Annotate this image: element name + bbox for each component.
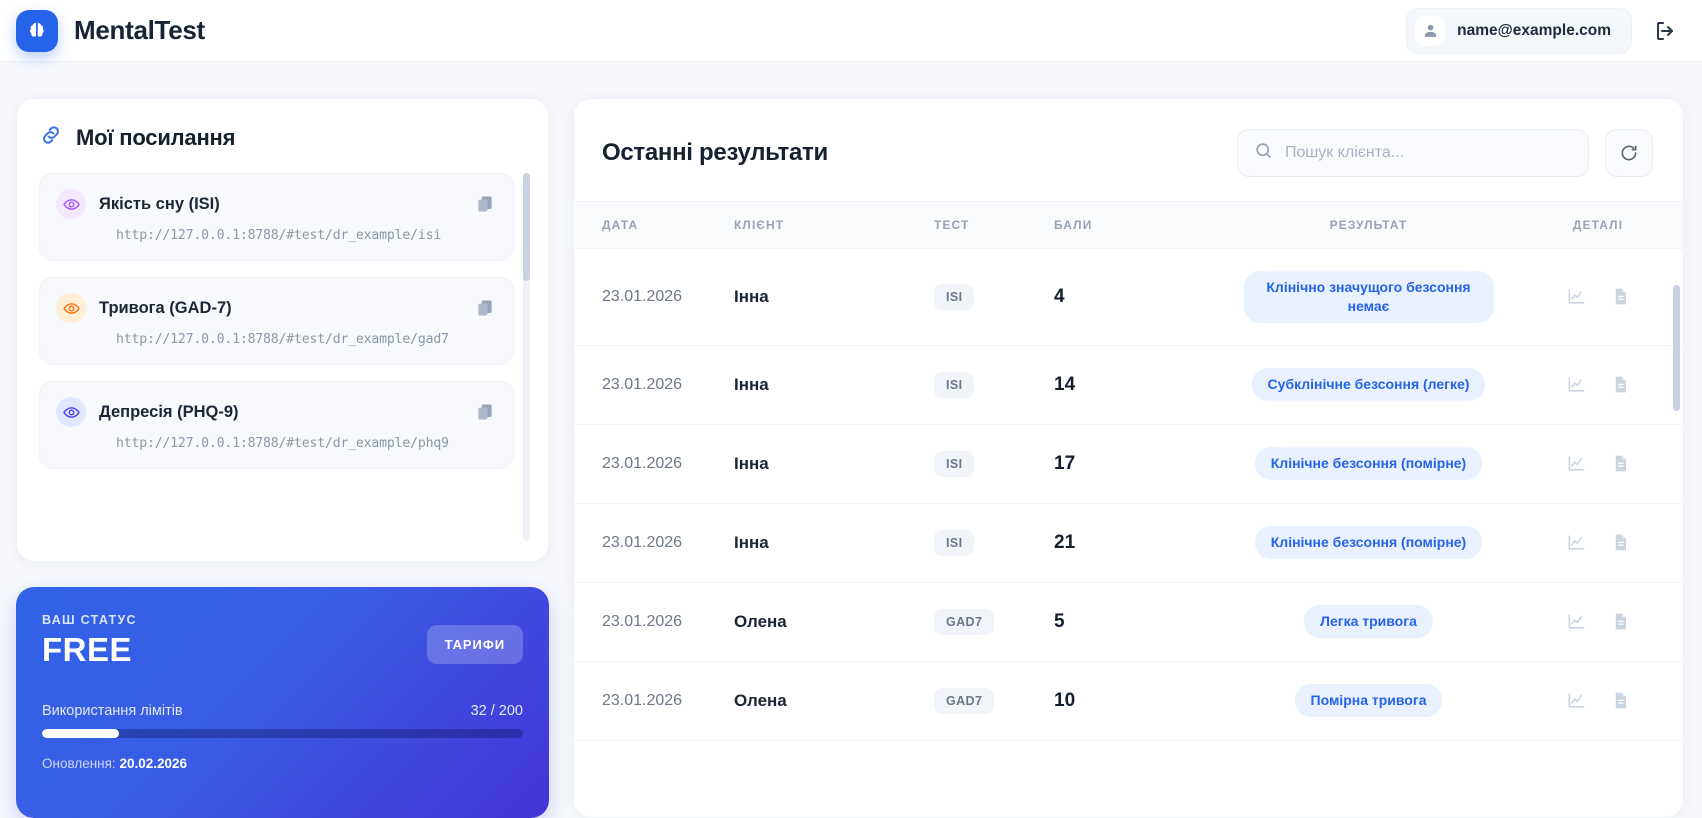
column-header-client[interactable]: КЛІЄНТ	[734, 202, 934, 249]
table-row[interactable]: 23.01.2026 Інна ISI 17 Клінічне безсоння…	[574, 424, 1683, 503]
table-header-row: ДАТА КЛІЄНТ ТЕСТ БАЛИ РЕЗУЛЬТАТ ДЕТАЛІ	[574, 202, 1683, 249]
table-row[interactable]: 23.01.2026 Олена GAD7 10 Помірна тривога	[574, 661, 1683, 740]
cell-test: ISI	[934, 249, 1054, 346]
cell-test: ISI	[934, 345, 1054, 424]
cell-result: Субклінічне безсоння (легке)	[1224, 345, 1513, 424]
user-email: name@example.com	[1457, 22, 1611, 40]
links-list: Якість сну (ISI) http://127.0.0.1:8788/#…	[39, 173, 530, 541]
table-row[interactable]: 23.01.2026 Інна ISI 4 Клінічно значущого…	[574, 249, 1683, 346]
my-links-card: Мої посилання Якість сну (ISI)	[16, 98, 549, 562]
cell-test: ISI	[934, 424, 1054, 503]
results-header: Останні результати	[574, 99, 1683, 201]
cell-client: Інна	[734, 424, 934, 503]
app-root: MentalTest name@example.com	[0, 0, 1702, 818]
test-badge: ISI	[934, 451, 974, 477]
limits-progress-bar	[42, 729, 523, 738]
cell-date: 23.01.2026	[574, 249, 734, 346]
app-header: MentalTest name@example.com	[0, 0, 1702, 62]
search-input[interactable]	[1285, 144, 1572, 162]
column-header-date[interactable]: ДАТА	[574, 202, 734, 249]
page-body: Мої посилання Якість сну (ISI)	[0, 62, 1702, 818]
chart-icon[interactable]	[1559, 368, 1593, 402]
cell-client: Олена	[734, 661, 934, 740]
cell-date: 23.01.2026	[574, 582, 734, 661]
user-icon	[1415, 16, 1445, 46]
limits-progress-fill	[42, 729, 119, 738]
cell-test: GAD7	[934, 582, 1054, 661]
column-header-details[interactable]: ДЕТАЛІ	[1513, 202, 1683, 249]
chart-icon[interactable]	[1559, 605, 1593, 639]
chart-icon[interactable]	[1559, 447, 1593, 481]
brand-name: MentalTest	[74, 15, 205, 46]
document-icon[interactable]	[1603, 526, 1637, 560]
cell-result: Легка тривога	[1224, 582, 1513, 661]
links-scrollbar-thumb[interactable]	[523, 173, 530, 281]
user-chip[interactable]: name@example.com	[1406, 8, 1632, 54]
cell-details	[1513, 661, 1683, 740]
cell-result: Клінічно значущого безсоння немає	[1224, 249, 1513, 346]
status-badge: Клінічно значущого безсоння немає	[1244, 271, 1494, 323]
document-icon[interactable]	[1603, 605, 1637, 639]
cell-date: 23.01.2026	[574, 424, 734, 503]
test-badge: ISI	[934, 372, 974, 398]
cell-details	[1513, 582, 1683, 661]
document-icon[interactable]	[1603, 447, 1637, 481]
column-header-test[interactable]: ТЕСТ	[934, 202, 1054, 249]
column-header-result[interactable]: РЕЗУЛЬТАТ	[1224, 202, 1513, 249]
results-panel: Останні результати	[573, 98, 1684, 818]
brain-icon	[16, 10, 58, 52]
plans-button[interactable]: ТАРИФИ	[427, 625, 523, 664]
test-badge: ISI	[934, 530, 974, 556]
list-item[interactable]: Тривога (GAD-7) http://127.0.0.1:8788/#t…	[39, 277, 514, 365]
my-links-title: Мої посилання	[76, 125, 235, 151]
test-badge: ISI	[934, 284, 974, 310]
page-title: Останні результати	[602, 139, 828, 167]
cell-score: 14	[1054, 345, 1224, 424]
link-url: http://127.0.0.1:8788/#test/dr_example/i…	[56, 228, 495, 243]
results-table: ДАТА КЛІЄНТ ТЕСТ БАЛИ РЕЗУЛЬТАТ ДЕТАЛІ 2…	[574, 201, 1683, 741]
limits-label: Використання лімітів	[42, 703, 183, 719]
cell-test: GAD7	[934, 661, 1054, 740]
copy-icon[interactable]	[475, 194, 495, 214]
document-icon[interactable]	[1603, 368, 1637, 402]
chart-icon[interactable]	[1559, 684, 1593, 718]
renew-label: Оновлення:	[42, 756, 116, 771]
cell-result: Клінічне безсоння (помірне)	[1224, 424, 1513, 503]
refresh-button[interactable]	[1605, 129, 1653, 177]
link-url: http://127.0.0.1:8788/#test/dr_example/p…	[56, 436, 495, 451]
test-badge: GAD7	[934, 609, 994, 635]
brand[interactable]: MentalTest	[16, 10, 205, 52]
results-table-body: 23.01.2026 Інна ISI 4 Клінічно значущого…	[574, 249, 1683, 741]
renew-date: 20.02.2026	[119, 756, 187, 771]
header-actions: name@example.com	[1406, 8, 1680, 54]
cell-score: 5	[1054, 582, 1224, 661]
cell-client: Інна	[734, 503, 934, 582]
cell-details	[1513, 503, 1683, 582]
eye-icon	[56, 189, 86, 219]
link-chain-icon	[39, 123, 63, 152]
document-icon[interactable]	[1603, 684, 1637, 718]
renew-info: Оновлення: 20.02.2026	[42, 756, 523, 771]
test-badge: GAD7	[934, 688, 994, 714]
cell-score: 10	[1054, 661, 1224, 740]
cell-details	[1513, 345, 1683, 424]
cell-date: 23.01.2026	[574, 345, 734, 424]
cell-test: ISI	[934, 503, 1054, 582]
search-icon	[1254, 141, 1273, 165]
eye-icon	[56, 397, 86, 427]
status-badge: Легка тривога	[1304, 605, 1433, 638]
cell-score: 21	[1054, 503, 1224, 582]
cell-score: 17	[1054, 424, 1224, 503]
status-card: ВАШ СТАТУС FREE ТАРИФИ Використання лімі…	[16, 587, 549, 818]
sidebar: Мої посилання Якість сну (ISI)	[16, 98, 549, 818]
chart-icon[interactable]	[1559, 280, 1593, 314]
status-badge: Субклінічне безсоння (легке)	[1252, 368, 1486, 401]
link-url: http://127.0.0.1:8788/#test/dr_example/g…	[56, 332, 495, 347]
eye-icon	[56, 293, 86, 323]
cell-score: 4	[1054, 249, 1224, 346]
table-row[interactable]: 23.01.2026 Інна ISI 14 Субклінічне безсо…	[574, 345, 1683, 424]
table-row[interactable]: 23.01.2026 Олена GAD7 5 Легка тривога	[574, 582, 1683, 661]
copy-icon[interactable]	[475, 298, 495, 318]
link-title: Депресія (PHQ-9)	[99, 403, 462, 422]
link-title: Тривога (GAD-7)	[99, 299, 462, 318]
table-row[interactable]: 23.01.2026 Інна ISI 21 Клінічне безсоння…	[574, 503, 1683, 582]
cell-details	[1513, 424, 1683, 503]
cell-date: 23.01.2026	[574, 503, 734, 582]
chart-icon[interactable]	[1559, 526, 1593, 560]
cell-date: 23.01.2026	[574, 661, 734, 740]
list-item[interactable]: Якість сну (ISI) http://127.0.0.1:8788/#…	[39, 173, 514, 261]
link-title: Якість сну (ISI)	[99, 195, 462, 214]
links-scrollbar[interactable]	[523, 173, 530, 541]
list-item[interactable]: Депресія (PHQ-9) http://127.0.0.1:8788/#…	[39, 381, 514, 469]
results-table-scroll: ДАТА КЛІЄНТ ТЕСТ БАЛИ РЕЗУЛЬТАТ ДЕТАЛІ 2…	[574, 201, 1683, 817]
column-header-score[interactable]: БАЛИ	[1054, 202, 1224, 249]
limits-value: 32 / 200	[471, 703, 523, 719]
search-box[interactable]	[1237, 129, 1589, 177]
copy-icon[interactable]	[475, 402, 495, 422]
status-badge: Помірна тривога	[1295, 684, 1443, 717]
results-scrollbar-thumb[interactable]	[1673, 285, 1680, 411]
status-badge: Клінічне безсоння (помірне)	[1255, 526, 1482, 559]
logout-icon[interactable]	[1650, 16, 1680, 46]
my-links-header: Мої посилання	[39, 123, 530, 152]
cell-result: Клінічне безсоння (помірне)	[1224, 503, 1513, 582]
cell-client: Інна	[734, 249, 934, 346]
limits-row: Використання лімітів 32 / 200	[42, 703, 523, 719]
cell-client: Інна	[734, 345, 934, 424]
document-icon[interactable]	[1603, 280, 1637, 314]
cell-result: Помірна тривога	[1224, 661, 1513, 740]
results-tools	[1237, 129, 1653, 177]
status-badge: Клінічне безсоння (помірне)	[1255, 447, 1482, 480]
results-scrollbar[interactable]	[1673, 201, 1680, 817]
cell-client: Олена	[734, 582, 934, 661]
cell-details	[1513, 249, 1683, 346]
